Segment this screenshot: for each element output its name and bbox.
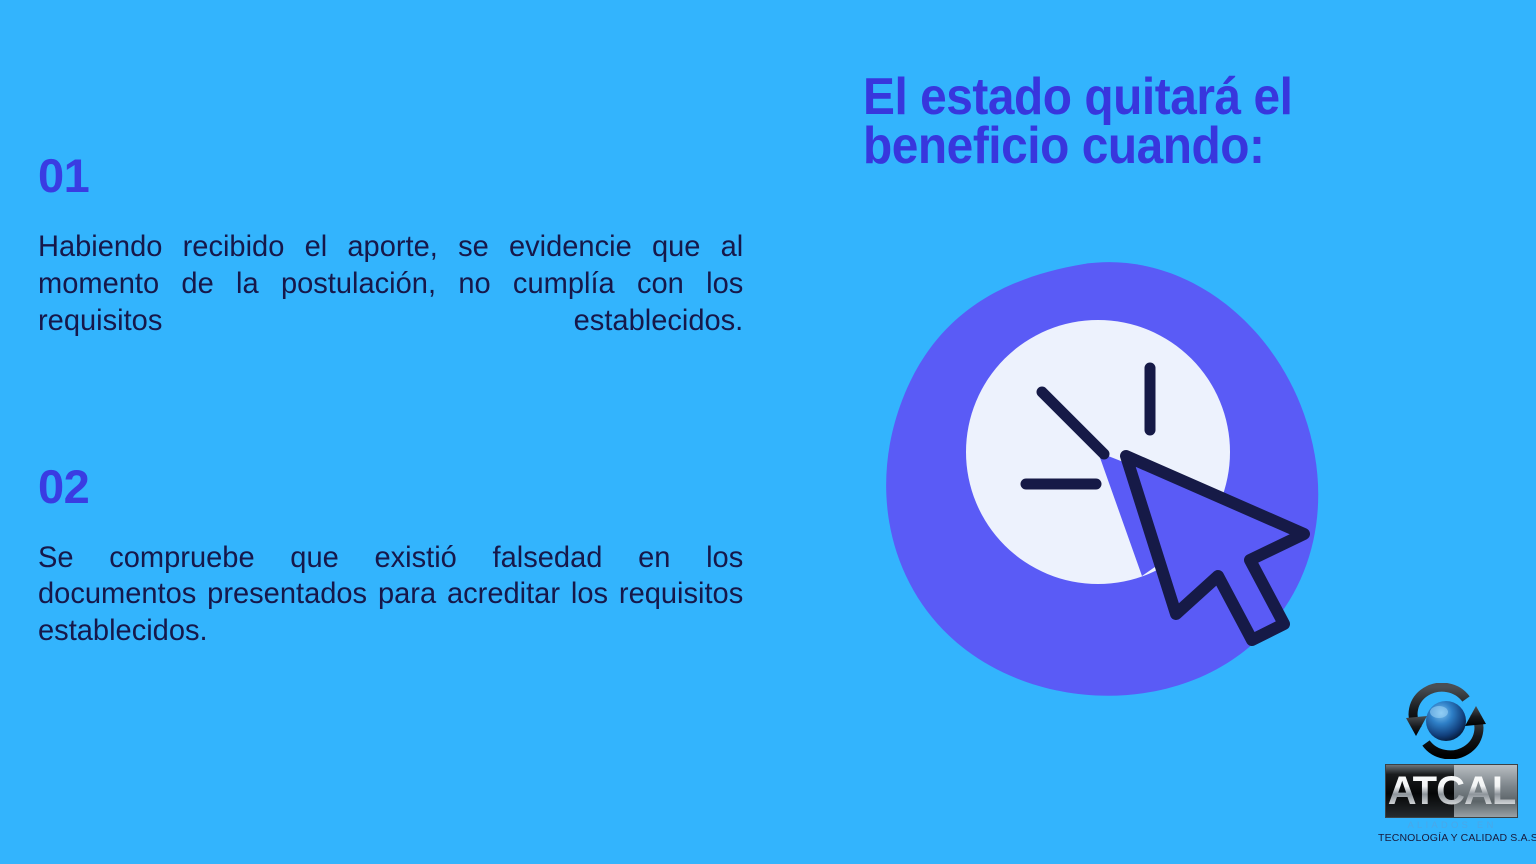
list-item-text: Se compruebe que existió falsedad en los… [38, 540, 743, 688]
list-item-text: Habiendo recibido el aporte, se evidenci… [38, 229, 743, 377]
logo-tagline-bottom: TECNOLOGÍA Y CALIDAD S.A.S. [1378, 832, 1530, 844]
page-title: El estado quitará el beneficio cuando: [863, 73, 1433, 172]
slide-canvas: El estado quitará el beneficio cuando: 0… [0, 0, 1536, 864]
numbered-list: 01 Habiendo recibido el aporte, se evide… [38, 152, 754, 687]
atcal-logo: ATCAL ALIADOS EN TECNOLOGÍA Y CALIDAD S.… [1378, 683, 1530, 848]
wordmark-text: ATCAL [1386, 771, 1517, 811]
atcal-wordmark: ATCAL [1385, 764, 1518, 818]
list-item: 01 Habiendo recibido el aporte, se evide… [38, 152, 754, 377]
list-item-number: 01 [38, 152, 754, 199]
list-item: 02 Se compruebe que existió falsedad en … [38, 463, 754, 688]
list-item-number: 02 [38, 463, 754, 510]
atcal-circular-arrows-sphere-icon [1396, 683, 1496, 759]
logo-tagline-top: ALIADOS EN [1386, 820, 1518, 831]
cursor-click-illustration [880, 240, 1340, 710]
